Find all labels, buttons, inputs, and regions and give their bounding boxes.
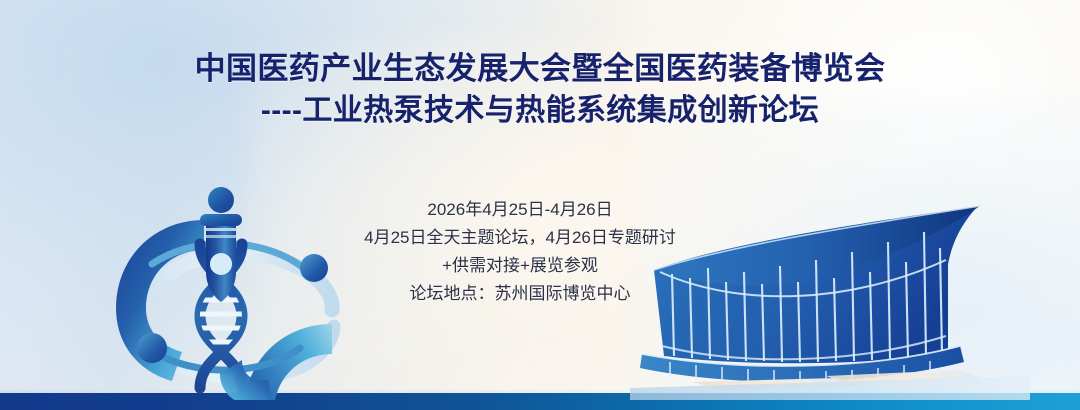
detail-venue: 论坛地点：苏州国际博览中心 [340,280,700,308]
banner-title: 中国医药产业生态发展大会暨全国医药装备博览会 ----工业热泵技术与热能系统集成… [0,48,1080,132]
test-tube [200,187,242,302]
title-line-2: ----工业热泵技术与热能系统集成创新论坛 [0,90,1080,132]
test-tube-highlight [210,253,232,275]
banner-details: 2026年4月25日-4月26日 4月25日全天主题论坛，4月26日专题研讨 +… [340,196,700,308]
orbital-node-right [300,254,328,282]
dna-test-tube-atom-logo [96,160,346,400]
test-tube-cap-sphere [208,187,234,213]
title-line-1: 中国医药产业生态发展大会暨全国医药装备博览会 [0,48,1080,90]
conference-banner: 中国医药产业生态发展大会暨全国医药装备博览会 ----工业热泵技术与热能系统集成… [0,0,1080,410]
orbital-node-left [137,333,167,363]
detail-date-range: 2026年4月25日-4月26日 [340,196,700,224]
test-tube-collar [200,214,242,226]
detail-schedule: 4月25日全天主题论坛，4月26日专题研讨 [340,224,700,252]
detail-activities: +供需对接+展览参观 [340,252,700,280]
